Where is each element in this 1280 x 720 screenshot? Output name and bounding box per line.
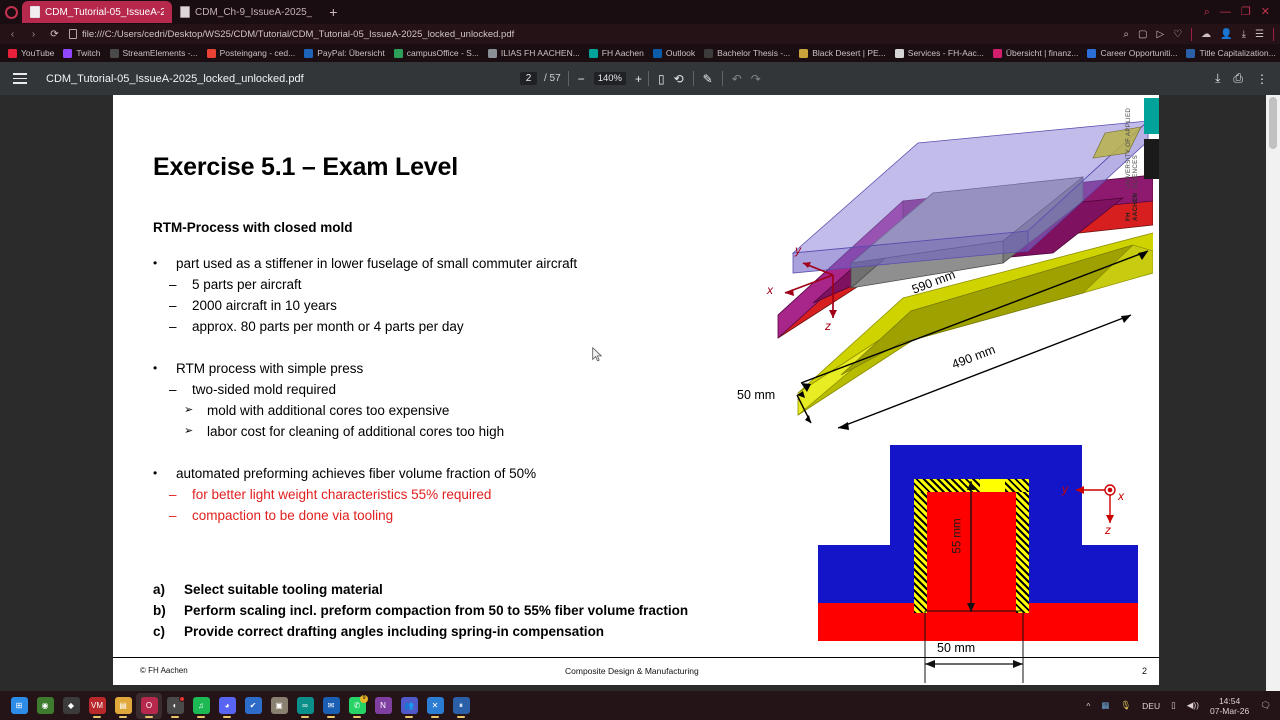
bullet-marker: – [169,274,192,295]
url-text: file:///C:/Users/cedri/Desktop/WS25/CDM/… [82,29,514,40]
bookmark-favicon-icon [304,49,313,58]
bookmark-label: ILIAS FH AACHEN... [501,48,580,58]
logo-dark-block [1144,139,1159,179]
spotify-icon: ♫ [193,697,210,714]
bookmark-favicon-icon [589,49,598,58]
divider [1191,28,1192,41]
discord-icon: ◕ [219,697,236,714]
bookmark-item[interactable]: YouTube [5,48,57,58]
bullet-text: 2000 aircraft in 10 years [192,295,337,316]
dimension-label-50mm: 50 mm [737,388,775,402]
mouse-cursor [592,347,603,362]
bullet-item: •part used as a stiffener in lower fusel… [153,253,577,274]
todoist-icon: ✔ [245,697,262,714]
microphone-icon[interactable]: 🎙 [1120,700,1131,711]
bullet-marker: • [153,463,176,484]
task-item: c)Provide correct drafting angles includ… [153,621,688,642]
task-text: Perform scaling incl. preform compaction… [184,600,688,621]
bullet-text: automated preforming achieves fiber volu… [176,463,536,484]
bookmark-label: Outlook [666,48,695,58]
pdf-file-icon [180,6,190,18]
bookmark-label: Twitch [76,48,100,58]
pdf-page: Exercise 5.1 – Exam Level RTM-Process wi… [113,95,1159,685]
bookmark-label: Title Capitalization... [1199,48,1275,58]
bookmark-favicon-icon [8,49,17,58]
taskbar-app-list: ⊞◉◆VM▤O◐♫◕✔▣∞✉✆9N👥✕⏸ [0,693,474,719]
dimension-label-55mm: 55 mm [952,518,964,553]
divider [722,71,723,86]
window-controls: ⌕ — ❐ ✕ [1204,0,1276,24]
blender-icon: ◆ [63,697,80,714]
bullet-text: for better light weight characteristics … [192,484,491,505]
cad-app-icon: ∞ [297,697,314,714]
mold-3d-svg [753,103,1153,433]
bullet-text: compaction to be done via tooling [192,505,393,526]
bookmark-label: Übersicht | finanz... [1006,48,1079,58]
download-icon[interactable]: ⤓ [1215,71,1220,86]
notification-badge [179,696,185,702]
opera-icon: O [141,697,158,714]
bullet-marker: – [169,379,192,400]
bullet-marker: ➢ [184,421,207,442]
bullet-item: ➢mold with additional cores too expensiv… [153,400,577,421]
bullet-text: 5 parts per aircraft [192,274,302,295]
page-number-input[interactable]: 2 [520,72,537,85]
rotate-icon[interactable]: ⟲ [674,72,684,86]
tab-label: CDM_Tutorial-05_IssueA-2 [45,7,164,18]
player-icon[interactable]: ▷ [1156,29,1164,40]
onenote-icon: N [375,697,392,714]
logo-text: FH AACHEN UNIVERSITY OF APPLIED SCIENCES [1125,97,1143,221]
axis-label-y: y [1062,482,1068,496]
browser-navbar: ‹ › ⟳ file:///C:/Users/cedri/Desktop/WS2… [0,24,1280,44]
bookmark-favicon-icon [110,49,119,58]
logo-accent-block [1144,98,1159,134]
taskbar-app-voicemeeter[interactable]: VM [84,693,110,719]
scrollbar-thumb[interactable] [1269,97,1277,149]
bullet-item: –2000 aircraft in 10 years [153,295,577,316]
desktop-screen: CDM_Tutorial-05_IssueA-2 CDM_Ch-9_IssueA… [0,0,1280,720]
axis-label-y: y [795,243,801,257]
bookmark-label: YouTube [21,48,54,58]
vscode-icon: ✕ [427,697,444,714]
footer-copyright: © FH Aachen [140,666,188,675]
axis-label-z: z [1105,523,1111,537]
taskbar-app-discord[interactable]: ◕ [214,693,240,719]
divider [693,71,694,86]
bullet-text: labor cost for cleaning of additional co… [207,421,504,442]
task-item: b)Perform scaling incl. preform compacti… [153,600,688,621]
taskbar-app-start[interactable]: ⊞ [6,693,32,719]
bullet-marker: – [169,505,192,526]
opera-logo-icon[interactable] [0,0,22,24]
taskbar-app-chrome[interactable]: ◐ [162,693,188,719]
bookmark-favicon-icon [394,49,403,58]
redo-icon[interactable]: ↷ [751,72,761,86]
bookmark-item[interactable]: PayPal: Übersicht [301,48,388,58]
task-key: c) [153,621,184,642]
footer-course-title: Composite Design & Manufacturing [565,666,699,676]
bookmark-label: Black Desert | PE... [812,48,886,58]
bookmark-item[interactable]: Twitch [60,48,103,58]
clock[interactable]: 14:54 07-Mar-26 [1210,696,1249,716]
taskbar-app-vscode[interactable]: ✕ [422,693,448,719]
clock-date: 07-Mar-26 [1210,706,1249,716]
undo-icon[interactable]: ↶ [732,72,742,86]
bookmark-favicon-icon [488,49,497,58]
taskbar-app-file-explorer[interactable]: ▤ [110,693,136,719]
pdf-toolbar: CDM_Tutorial-05_IssueA-2025_locked_unloc… [0,62,1280,95]
outlook-icon: ✉ [323,697,340,714]
bookmark-item[interactable]: Title Capitalization... [1183,48,1278,58]
bullet-text: mold with additional cores too expensive [207,400,449,421]
bullet-marker: ➢ [184,400,207,421]
mold-cross-section-figure: y x z 55 mm 50 mm [818,445,1148,685]
bookmark-label: StreamElements -... [123,48,198,58]
task-key: a) [153,579,184,600]
browser-tab-1[interactable]: CDM_Tutorial-05_IssueA-2 [22,1,172,23]
file-explorer-icon: ▤ [115,697,132,714]
tab-label: CDM_Ch-9_IssueA-2025_ [195,7,312,18]
reload-icon[interactable]: ⟳ [48,29,61,40]
zoom-level-label[interactable]: 140% [594,72,626,85]
taskbar-app-onenote[interactable]: N [370,693,396,719]
volume-icon[interactable]: ◀)) [1187,700,1199,711]
page-title: Exercise 5.1 – Exam Level [153,153,458,182]
bookmark-item[interactable]: campusOffice - S... [391,48,482,58]
bookmark-favicon-icon [993,49,1002,58]
zoom-icon[interactable]: ⌕ [1123,29,1129,40]
teams-icon: 👥 [401,697,418,714]
battery-icon[interactable]: ▯ [1171,700,1176,711]
taskbar-app-nvidia[interactable]: ◉ [32,693,58,719]
screenshot-icon[interactable]: ▢ [1138,29,1147,40]
bookmark-label: Posteingang - ced... [220,48,296,58]
bookmark-item[interactable]: Posteingang - ced... [204,48,299,58]
task-item: a)Select suitable tooling material [153,579,688,600]
bookmark-item[interactable]: StreamElements -... [107,48,201,58]
bullet-item: –two-sided mold required [153,379,577,400]
print-icon[interactable]: ⎙ [1233,71,1243,86]
bullet-marker: – [169,484,192,505]
cross-section-dimensions-svg [818,445,1148,685]
axis-label-x: x [1118,489,1124,503]
taskbar-app-whatsapp[interactable]: ✆9 [344,693,370,719]
page-info-icon [69,29,77,39]
bookmark-favicon-icon [1087,49,1096,58]
audacity-icon: ⏸ [453,697,470,714]
bookmark-favicon-icon [653,49,662,58]
minimize-button[interactable]: — [1220,7,1231,18]
bullet-marker: – [169,316,192,337]
more-options-icon[interactable]: ⋮ [1256,72,1268,86]
bookmark-item[interactable]: Career Opportuniti... [1084,48,1180,58]
bullet-item: •automated preforming achieves fiber vol… [153,463,577,484]
bookmark-favicon-icon [63,49,72,58]
dimension-label-50mm: 50 mm [937,641,975,655]
rtm-mold-3d-figure: y x z 590 mm 490 mm 50 mm [753,103,1153,433]
bookmark-item[interactable]: ILIAS FH AACHEN... [485,48,583,58]
address-bar[interactable]: file:///C:/Users/cedri/Desktop/WS25/CDM/… [69,27,1109,42]
slide-bullet-list: •part used as a stiffener in lower fusel… [153,253,577,526]
bullet-item: –approx. 80 parts per month or 4 parts p… [153,316,577,337]
bookmark-favicon-icon [895,49,904,58]
windows-taskbar: ⊞◉◆VM▤O◐♫◕✔▣∞✉✆9N👥✕⏸ ^ ▦ 🎙 DEU ▯ ◀)) 14:… [0,691,1280,720]
fh-aachen-logo: FH AACHEN UNIVERSITY OF APPLIED SCIENCES [1112,95,1159,225]
annotate-icon[interactable]: ✎ [703,72,713,86]
bullet-marker: • [153,358,176,379]
pdf-file-icon [30,6,40,18]
bullet-marker: • [153,253,176,274]
start-icon: ⊞ [11,697,28,714]
fit-page-icon[interactable]: ▯ [658,72,665,86]
network-icon[interactable]: ▦ [1101,700,1109,711]
divider [648,71,649,86]
back-arrow-icon[interactable]: ‹ [6,29,19,40]
system-tray: ^ ▦ 🎙 DEU ▯ ◀)) 14:54 07-Mar-26 🗨 [1086,696,1280,716]
taskbar-app-opera[interactable]: O [136,693,162,719]
vertical-scrollbar[interactable]: ▴ [1266,95,1280,691]
taskbar-app-spotify[interactable]: ♫ [188,693,214,719]
bullet-item: ➢labor cost for cleaning of additional c… [153,421,577,442]
spacer [153,442,577,463]
pdf-tool-buttons: ▯ ⟲ ✎ ↶ ↷ [648,71,761,86]
zoom-out-button[interactable]: − [576,72,587,86]
bookmark-item[interactable]: Black Desert | PE... [796,48,889,58]
pdf-page-controls: 2 / 57 − 140% + [520,71,644,86]
axis-label-z: z [825,319,831,333]
footer-divider [113,657,1159,658]
bookmark-item[interactable]: FH Aachen [586,48,647,58]
bookmark-favicon-icon [1186,49,1195,58]
bookmark-label: Services - FH-Aac... [908,48,984,58]
bookmark-item[interactable]: Services - FH-Aac... [892,48,987,58]
maximize-button[interactable]: ❐ [1241,7,1251,18]
notification-icon[interactable]: 🗨 [1260,700,1271,711]
bookmark-favicon-icon [207,49,216,58]
taskbar-app-teams[interactable]: 👥 [396,693,422,719]
notification-count-badge: 9 [360,695,368,703]
bullet-text: RTM process with simple press [176,358,363,379]
pdf-filename: CDM_Tutorial-05_IssueA-2025_locked_unloc… [46,73,304,85]
task-text: Provide correct drafting angles includin… [184,621,604,642]
new-tab-button[interactable]: + [324,3,342,21]
bullet-text: part used as a stiffener in lower fusela… [176,253,577,274]
taskbar-app-photos[interactable]: ▣ [266,693,292,719]
search-icon[interactable]: ⌕ [1204,7,1210,18]
bullet-item: –compaction to be done via tooling [153,505,577,526]
bookmark-item[interactable]: Übersicht | finanz... [990,48,1082,58]
axis-label-x: x [767,283,773,297]
zoom-in-button[interactable]: + [633,72,644,86]
bookmark-label: Career Opportuniti... [1100,48,1177,58]
taskbar-app-cad-app[interactable]: ∞ [292,693,318,719]
forward-arrow-icon[interactable]: › [27,29,40,40]
menu-icon[interactable]: ☰ [1255,29,1264,40]
slide-task-list: a)Select suitable tooling materialb)Perf… [153,579,688,642]
bookmark-item[interactable]: Bachelor Thesis -... [701,48,793,58]
divider [1273,28,1274,41]
downloads-icon[interactable]: ⤓ [1242,29,1246,40]
spacer [153,337,577,358]
bookmark-favicon-icon [799,49,808,58]
language-indicator[interactable]: DEU [1142,701,1160,711]
voicemeeter-icon: VM [89,697,106,714]
bullet-item: –5 parts per aircraft [153,274,577,295]
page-total-label: / 57 [544,73,561,84]
heart-icon[interactable]: ♡ [1173,29,1182,40]
taskbar-app-audacity[interactable]: ⏸ [448,693,474,719]
bookmark-label: campusOffice - S... [407,48,479,58]
taskbar-app-todoist[interactable]: ✔ [240,693,266,719]
logo-line-2: UNIVERSITY OF APPLIED SCIENCES [1125,97,1143,189]
pdf-viewer-area: ▴ Exercise 5.1 – Exam Level RTM-Process … [0,95,1280,691]
taskbar-app-outlook[interactable]: ✉ [318,693,344,719]
browser-tab-2[interactable]: CDM_Ch-9_IssueA-2025_ [172,1,320,23]
bullet-text: approx. 80 parts per month or 4 parts pe… [192,316,464,337]
logo-line-1: FH AACHEN [1125,190,1143,221]
divider [568,71,569,86]
weather-icon[interactable]: ☁ [1201,29,1211,40]
profile-icon[interactable]: 👤 [1220,29,1232,40]
photos-icon: ▣ [271,697,288,714]
bookmark-label: Bachelor Thesis -... [717,48,790,58]
bookmarks-bar: YouTubeTwitchStreamElements -...Posteing… [0,44,1280,62]
bullet-text: two-sided mold required [192,379,336,400]
close-button[interactable]: ✕ [1261,7,1270,18]
sidebar-toggle-icon[interactable] [13,73,27,84]
taskbar-app-blender[interactable]: ◆ [58,693,84,719]
slide-subtitle: RTM-Process with closed mold [153,220,353,235]
task-key: b) [153,600,184,621]
browser-tabstrip: CDM_Tutorial-05_IssueA-2 CDM_Ch-9_IssueA… [0,0,1280,24]
bullet-item: –for better light weight characteristics… [153,484,577,505]
bullet-item: •RTM process with simple press [153,358,577,379]
task-text: Select suitable tooling material [184,579,383,600]
browser-toolbar-icons: ⌕ ▢ ▷ ♡ ☁ 👤 ⤓ ☰ [1117,28,1274,41]
footer-page-number: 2 [1142,666,1147,676]
pdf-right-buttons: ⤓ ⎙ ⋮ [1215,71,1268,86]
tray-overflow-icon[interactable]: ^ [1086,701,1090,711]
bookmark-label: PayPal: Übersicht [317,48,385,58]
bookmark-item[interactable]: Outlook [650,48,698,58]
bookmark-favicon-icon [704,49,713,58]
bookmark-label: FH Aachen [602,48,644,58]
bullet-marker: – [169,295,192,316]
clock-time: 14:54 [1210,696,1249,706]
nvidia-icon: ◉ [37,697,54,714]
